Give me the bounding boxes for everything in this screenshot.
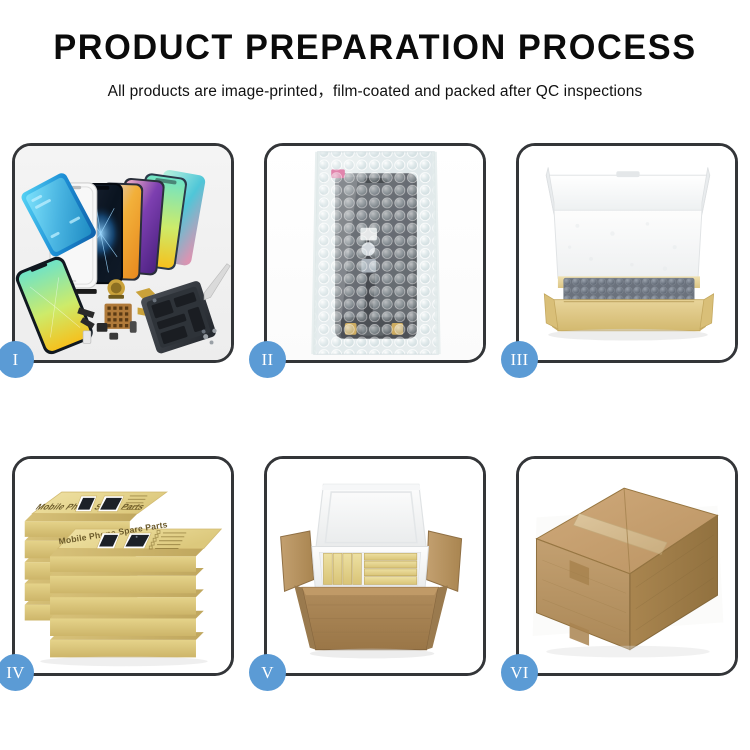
- panel-5-image: [267, 459, 483, 673]
- stacked-retail-boxes-illustration: Mobile Phone Spare Parts: [15, 459, 231, 673]
- panel-4-image: Mobile Phone Spare Parts: [15, 459, 231, 673]
- step-badge-5: V: [249, 654, 286, 691]
- panel-2-image: [267, 146, 483, 360]
- process-step-panel-5[interactable]: V: [264, 456, 486, 676]
- step-badge-6: VI: [501, 654, 538, 691]
- process-step-grid: I: [12, 143, 738, 676]
- panel-3-image: [519, 146, 735, 360]
- sealed-carton-illustration: [519, 459, 735, 673]
- bubble-wrapped-screen-illustration: [267, 146, 483, 360]
- step-badge-1: I: [0, 341, 34, 378]
- process-step-panel-1[interactable]: I: [12, 143, 234, 363]
- process-step-panel-6[interactable]: VI: [516, 456, 738, 676]
- panel-6-image: [519, 459, 735, 673]
- step-badge-4: IV: [0, 654, 34, 691]
- step-badge-2: II: [249, 341, 286, 378]
- page-subtitle: All products are image-printed，film-coat…: [0, 79, 750, 101]
- page-header: PRODUCT PREPARATION PROCESS All products…: [0, 0, 750, 101]
- step-badge-3: III: [501, 341, 538, 378]
- page-title: PRODUCT PREPARATION PROCESS: [8, 30, 743, 67]
- process-step-panel-2[interactable]: II: [264, 143, 486, 363]
- open-kraft-box-illustration: [519, 146, 735, 360]
- process-step-panel-3[interactable]: III: [516, 143, 738, 363]
- panel-1-image: [15, 146, 231, 360]
- process-step-panel-4[interactable]: Mobile Phone Spare Parts: [12, 456, 234, 676]
- carton-with-foam-insert-illustration: [267, 459, 483, 673]
- phones-and-parts-illustration: [15, 146, 231, 360]
